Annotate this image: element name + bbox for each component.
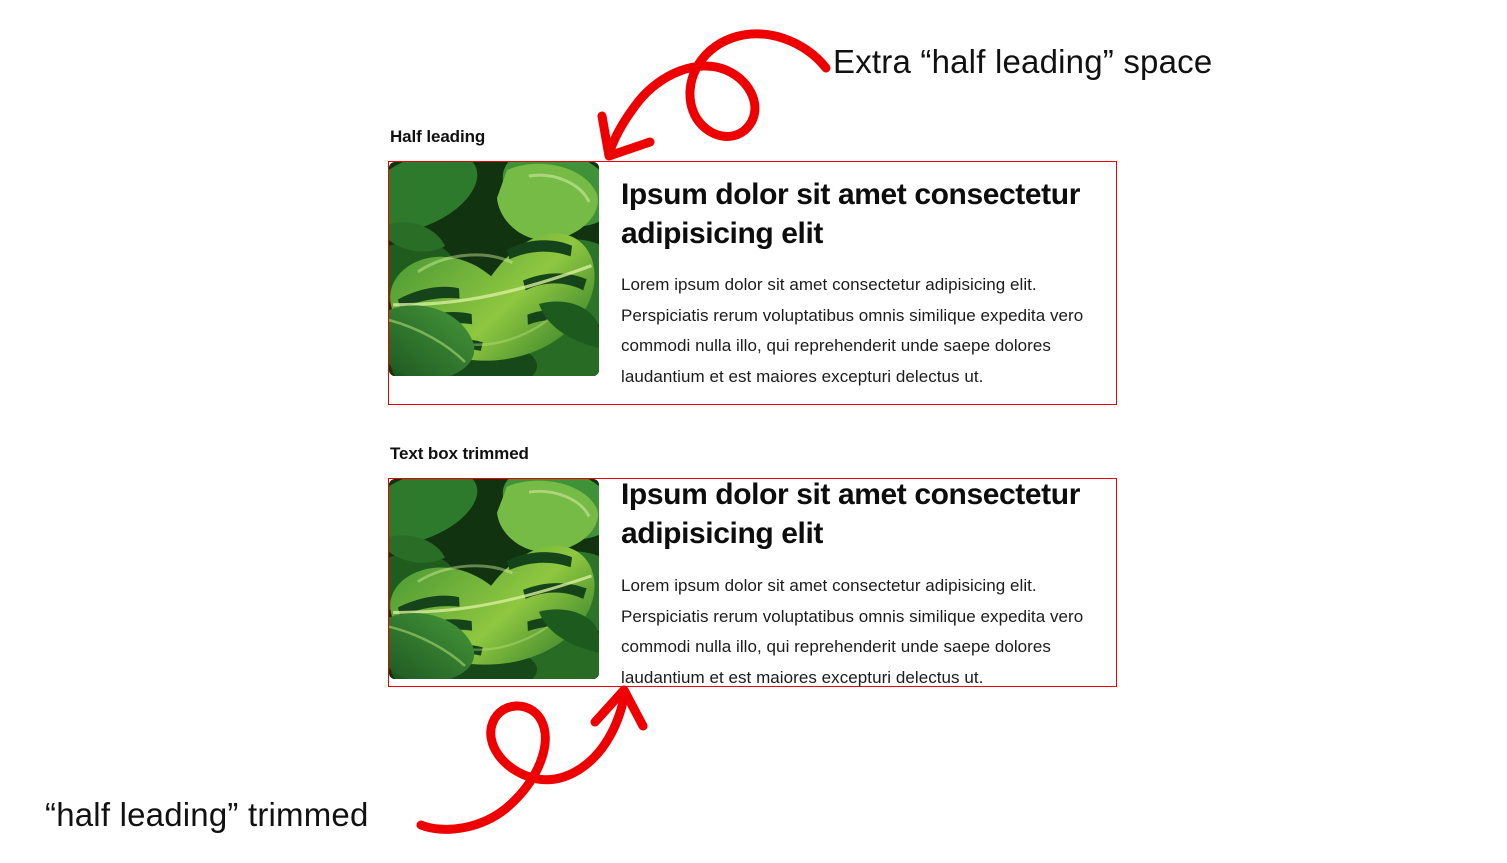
monstera-leaves-photo [389,479,599,679]
card-image-half-leading [389,162,599,376]
example-half-leading: Half leading [388,126,1117,405]
example-text-box-trimmed: Text box trimmed [388,443,1117,687]
card-text-half-leading: Ipsum dolor sit amet consectetur adipisi… [599,162,1116,404]
curly-arrow-up-right-icon [415,678,665,838]
monstera-leaves-photo [389,162,599,376]
card-image-trimmed [389,479,599,679]
card-text-box-trimmed: Ipsum dolor sit amet consectetur adipisi… [388,478,1117,687]
annotation-bottom-label: “half leading” trimmed [45,795,369,835]
card-body-text: Lorem ipsum dolor sit amet consectetur a… [621,270,1100,392]
example-label-half-leading: Half leading [390,126,1117,148]
card-text-trimmed: Ipsum dolor sit amet consectetur adipisi… [599,479,1116,686]
card-half-leading: Ipsum dolor sit amet consectetur adipisi… [388,161,1117,405]
card-heading: Ipsum dolor sit amet consectetur adipisi… [621,175,1100,253]
annotation-top-label: Extra “half leading” space [833,42,1212,82]
example-label-text-box-trimmed: Text box trimmed [390,443,1117,465]
card-heading: Ipsum dolor sit amet consectetur adipisi… [621,475,1100,553]
card-body-text: Lorem ipsum dolor sit amet consectetur a… [621,571,1100,693]
